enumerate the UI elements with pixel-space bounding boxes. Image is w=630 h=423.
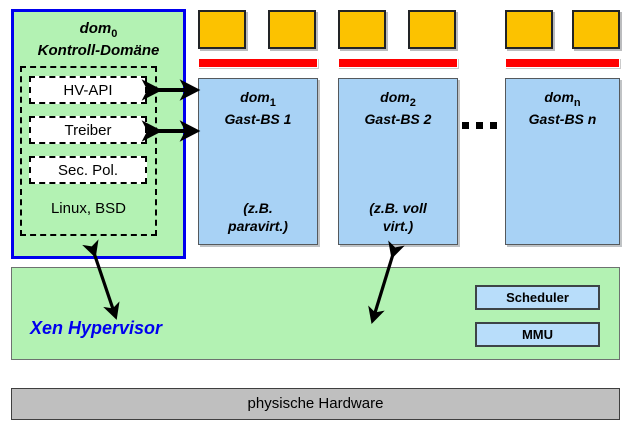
- guest-dom1-index: 1: [270, 97, 276, 109]
- isolation-bar-domn: [505, 58, 620, 68]
- guest-dom1-note: (z.B. paravirt.): [199, 200, 317, 235]
- xen-architecture-diagram: dom0 Kontroll-Domäne HV-API Treiber Sec.…: [0, 0, 630, 423]
- hypervisor-component-scheduler[interactable]: Scheduler: [475, 285, 600, 310]
- control-domain-index: 0: [111, 28, 117, 40]
- guest-domain-domn: domn Gast-BS n: [505, 78, 620, 245]
- guest-domn-index: n: [574, 97, 581, 109]
- app-box-domn-2[interactable]: [572, 10, 620, 49]
- guest-dom2-title: dom2 Gast-BS 2: [339, 88, 457, 128]
- isolation-bar-dom1: [198, 58, 318, 68]
- control-domain-name: dom: [80, 20, 112, 37]
- guest-domain-dom2: dom2 Gast-BS 2 (z.B. voll virt.): [338, 78, 458, 245]
- control-domain-title: dom0 Kontroll-Domäne: [14, 20, 183, 61]
- app-box-dom1-1[interactable]: [198, 10, 246, 49]
- app-box-dom2-1[interactable]: [338, 10, 386, 49]
- guest-dom1-note-line2: paravirt.): [228, 218, 288, 234]
- guest-domn-name: dom: [544, 89, 574, 105]
- guest-dom2-subtitle: Gast-BS 2: [365, 111, 432, 127]
- guest-dom2-name: dom: [380, 89, 410, 105]
- module-hv-api[interactable]: HV-API: [29, 76, 147, 104]
- guest-dom1-subtitle: Gast-BS 1: [225, 111, 292, 127]
- control-domain-os-label: Linux, BSD: [20, 200, 157, 217]
- guest-dom2-note-line2: virt.): [383, 218, 413, 234]
- ellipsis-more-domains: [462, 122, 502, 130]
- control-domain-subtitle: Kontroll-Domäne: [38, 42, 160, 59]
- guest-domain-dom1: dom1 Gast-BS 1 (z.B. paravirt.): [198, 78, 318, 245]
- guest-dom1-note-line1: (z.B.: [243, 200, 273, 216]
- guest-dom2-note: (z.B. voll virt.): [339, 200, 457, 235]
- guest-domn-subtitle: Gast-BS n: [529, 111, 597, 127]
- module-sec-pol[interactable]: Sec. Pol.: [29, 156, 147, 184]
- physical-hardware-layer: physische Hardware: [11, 388, 620, 420]
- hypervisor-component-mmu[interactable]: MMU: [475, 322, 600, 347]
- guest-dom2-index: 2: [410, 97, 416, 109]
- isolation-bar-dom2: [338, 58, 458, 68]
- guest-dom2-note-line1: (z.B. voll: [369, 200, 427, 216]
- app-box-domn-1[interactable]: [505, 10, 553, 49]
- app-box-dom2-2[interactable]: [408, 10, 456, 49]
- module-treiber[interactable]: Treiber: [29, 116, 147, 144]
- guest-dom1-name: dom: [240, 89, 270, 105]
- hypervisor-label: Xen Hypervisor: [30, 318, 162, 339]
- app-box-dom1-2[interactable]: [268, 10, 316, 49]
- guest-dom1-title: dom1 Gast-BS 1: [199, 88, 317, 128]
- guest-domn-title: domn Gast-BS n: [506, 88, 619, 128]
